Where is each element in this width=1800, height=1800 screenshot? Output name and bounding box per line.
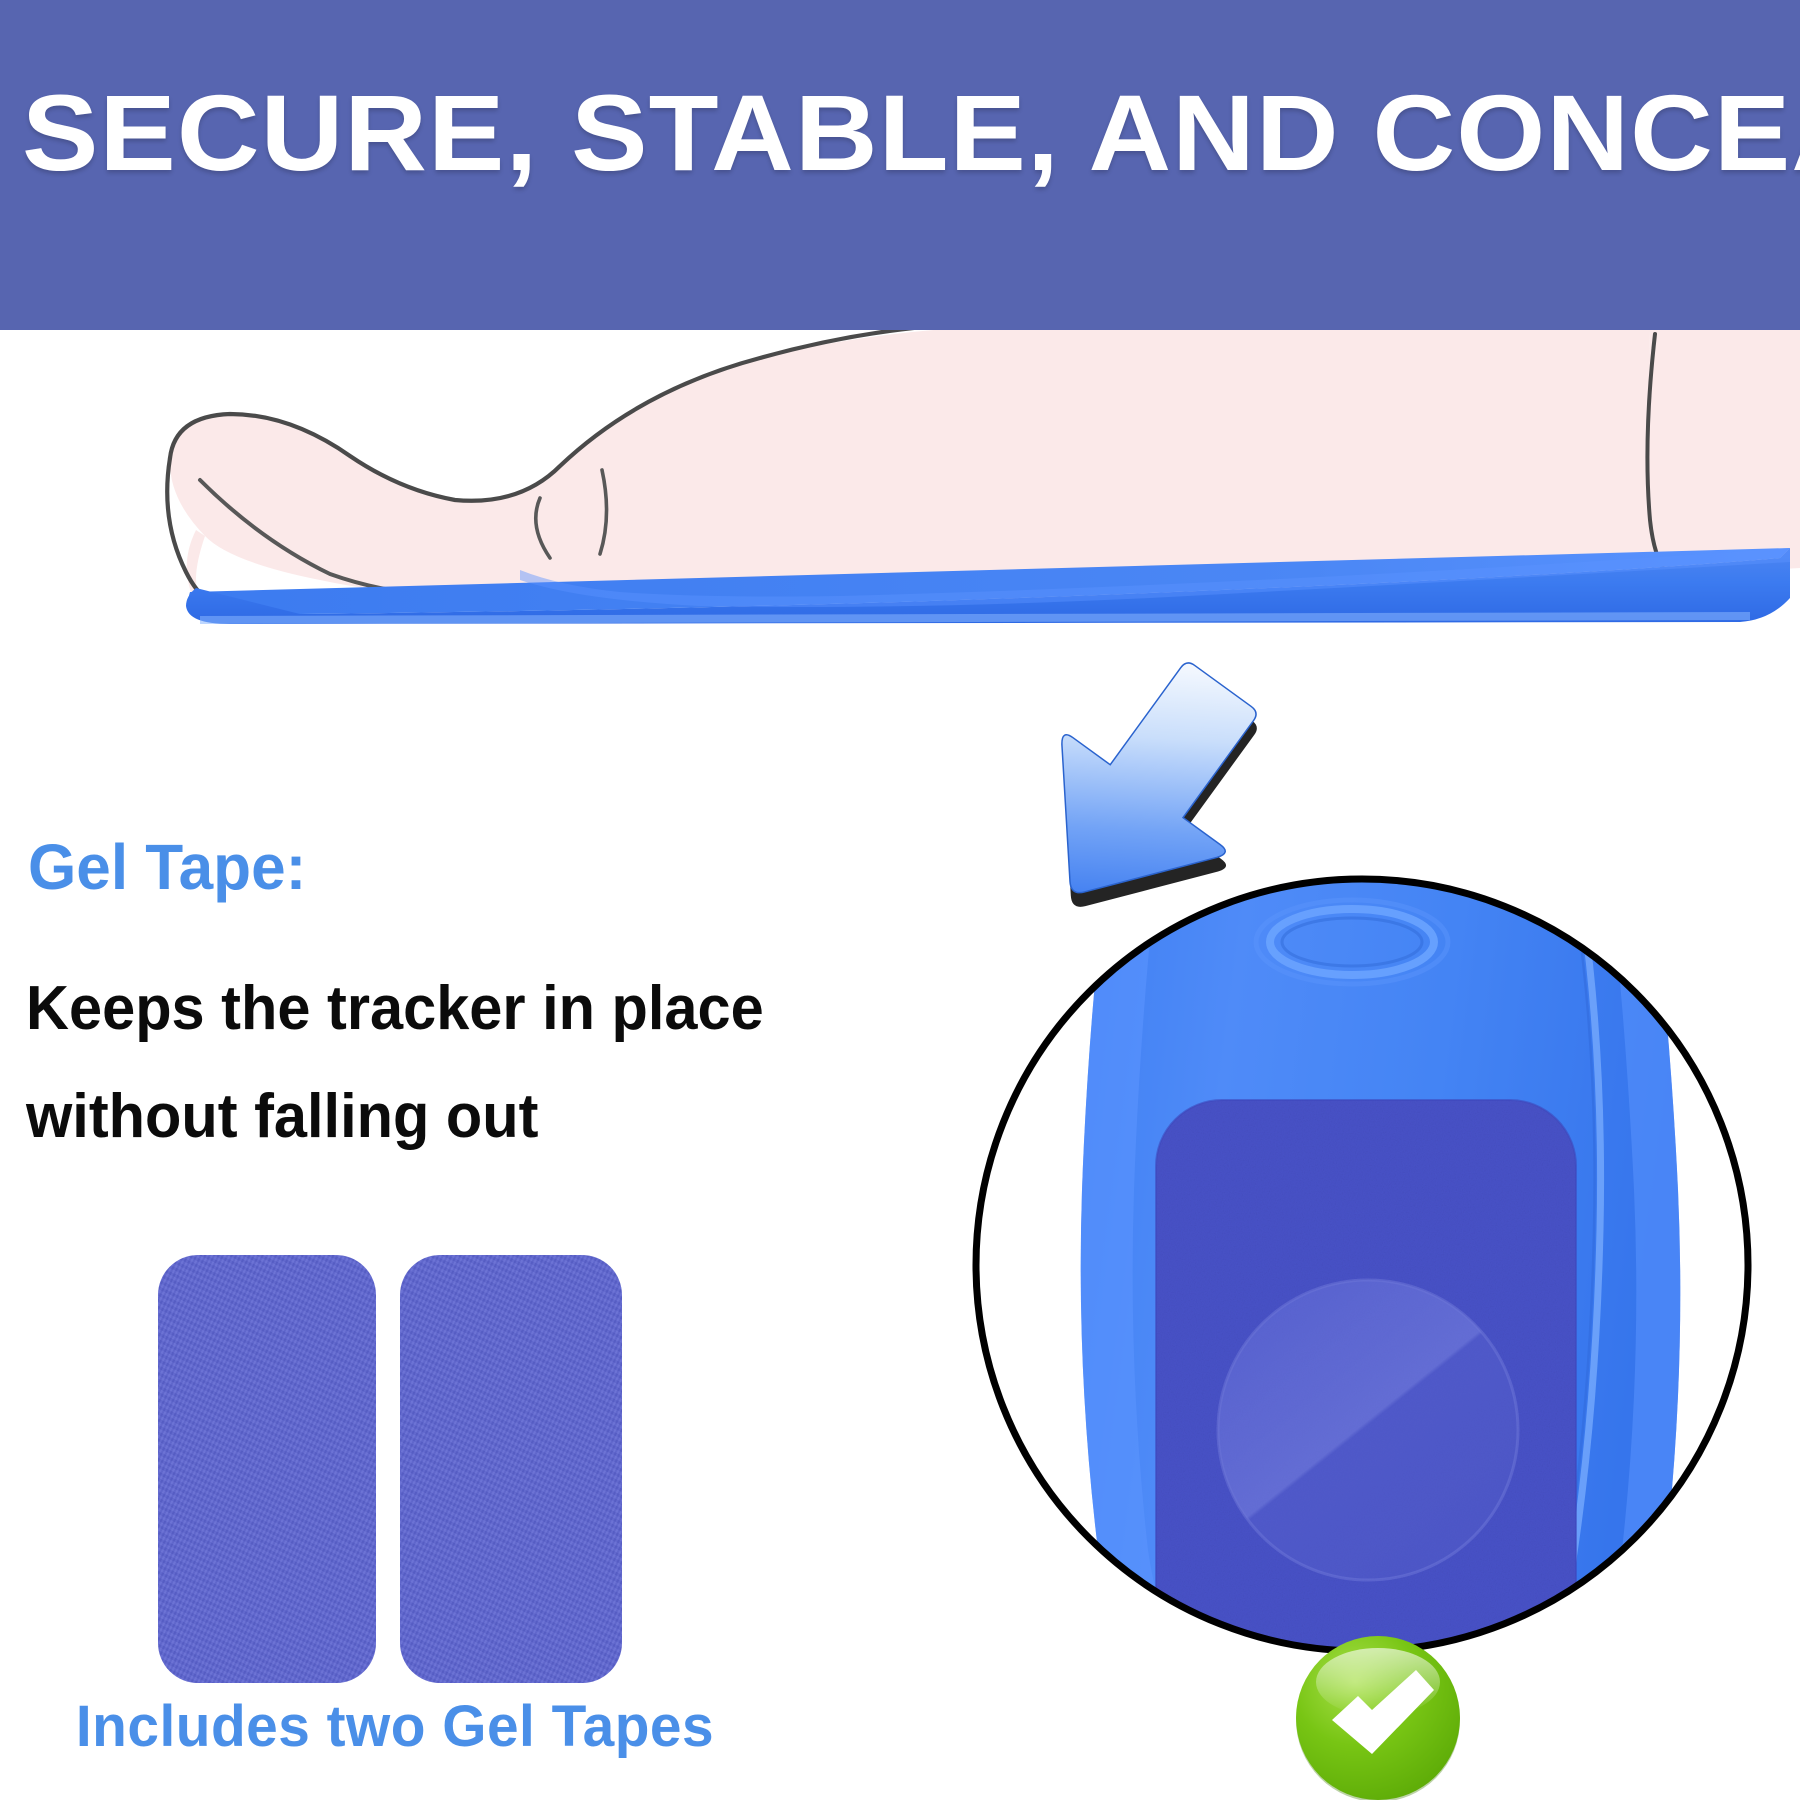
page-title: SECURE, STABLE, AND CONCEALE <box>22 78 1800 188</box>
description-line-2: without falling out <box>26 1063 890 1171</box>
foot-on-insole-illustration <box>0 330 1800 630</box>
header-banner: SECURE, STABLE, AND CONCEALE <box>0 0 1800 330</box>
tracker-disc <box>1218 1280 1518 1580</box>
lens-contents <box>960 850 1780 1690</box>
infographic-canvas: SECURE, STABLE, AND CONCEALE <box>0 0 1800 1800</box>
description-line-1: Keeps the tracker in place <box>26 955 890 1063</box>
gel-tape-description: Keeps the tracker in place without falli… <box>26 955 890 1171</box>
magnified-detail-view <box>960 850 1780 1690</box>
green-check-approved-icon <box>1292 1632 1464 1800</box>
gel-tape-heading: Gel Tape: <box>28 832 306 902</box>
gel-tape-swatch-2 <box>400 1255 622 1683</box>
tape-count-caption: Includes two Gel Tapes <box>8 1694 782 1760</box>
gel-tape-swatch-1 <box>158 1255 376 1683</box>
